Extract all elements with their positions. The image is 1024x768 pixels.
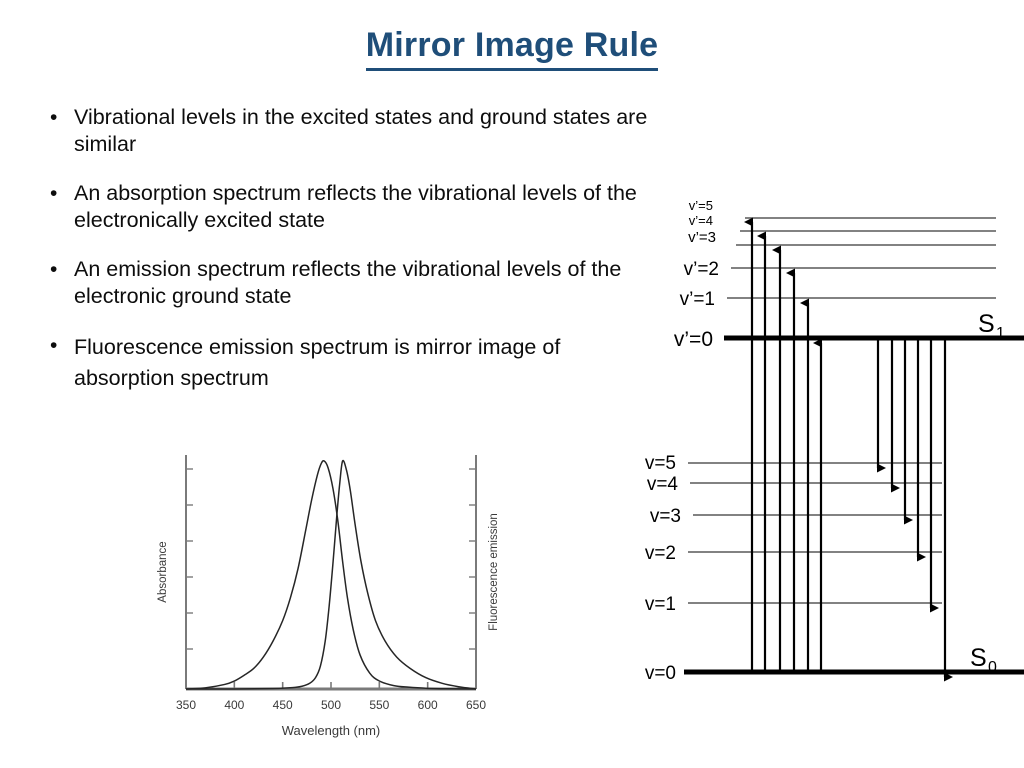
excited-level-label-2: v’=2 (684, 259, 719, 280)
bullet-item-4: • Fluorescence emission spectrum is mirr… (44, 332, 664, 394)
excited-state-label: S (978, 310, 995, 338)
absorbance-curve (186, 461, 476, 689)
excited-level-label-0: v’=0 (674, 328, 713, 351)
excited-level-label-1: v’=1 (680, 289, 715, 310)
emission-arrows (878, 338, 945, 677)
bullet-text-4: Fluorescence emission spectrum is mirror… (74, 335, 560, 390)
bullet-item-2: • An absorption spectrum reflects the vi… (44, 180, 664, 234)
ground-state-label: S (970, 644, 987, 672)
ground-level-label-4: v=4 (647, 474, 679, 495)
x-axis-ticklabel: 400 (224, 698, 244, 712)
spectra-svg: 350400450500550600650 Absorbance Fluores… (142, 443, 522, 748)
x-axis-ticklabel: 650 (466, 698, 486, 712)
x-axis-ticklabel: 450 (273, 698, 293, 712)
fluorescence-emission-curve (186, 461, 476, 690)
slide-canvas: Mirror Image Rule • Vibrational levels i… (0, 0, 1024, 768)
ground-level-label-5: v=5 (645, 453, 676, 474)
ground-level-label-2: v=2 (645, 543, 676, 564)
bullet-item-1: • Vibrational levels in the excited stat… (44, 104, 664, 158)
bullet-text-1: Vibrational levels in the excited states… (74, 105, 647, 156)
bullet-list: • Vibrational levels in the excited stat… (44, 104, 664, 416)
page-title-text: Mirror Image Rule (366, 26, 658, 71)
bullet-text-2: An absorption spectrum reflects the vibr… (74, 181, 637, 232)
x-axis-ticklabel: 600 (418, 698, 438, 712)
x-axis-ticklabel: 500 (321, 698, 341, 712)
absorption-arrows (752, 222, 821, 672)
jablonski-svg: v’=5 v’=4 v’=3 v’=2 v’=1 v’=0 S 1 v=5 v=… (600, 180, 1024, 700)
x-axis-title: Wavelength (nm) (282, 723, 381, 738)
left-axis-title: Absorbance (157, 541, 169, 602)
page-title: Mirror Image Rule (0, 26, 1024, 71)
bullet-marker: • (50, 256, 57, 283)
x-axis-ticklabels: 350400450500550600650 (176, 698, 486, 712)
bullet-marker: • (50, 180, 57, 207)
bullet-text-3: An emission spectrum reflects the vibrat… (74, 257, 621, 308)
ground-level-label-1: v=1 (645, 594, 676, 615)
excited-level-lines (727, 218, 996, 298)
spectra-figure: 350400450500550600650 Absorbance Fluores… (142, 443, 522, 748)
excited-level-label-3: v’=3 (688, 229, 716, 246)
excited-level-label-5: v’=5 (689, 198, 713, 213)
left-axis-ticks (186, 469, 193, 649)
right-axis-ticks (469, 469, 476, 649)
jablonski-diagram: v’=5 v’=4 v’=3 v’=2 v’=1 v’=0 S 1 v=5 v=… (600, 180, 1024, 700)
x-axis-ticklabel: 550 (369, 698, 389, 712)
x-axis-ticklabel: 350 (176, 698, 196, 712)
ground-level-label-0: v=0 (645, 663, 676, 684)
bullet-marker: • (50, 104, 57, 131)
bullet-marker: • (50, 332, 57, 359)
ground-state-sublabel: 0 (988, 659, 997, 676)
excited-level-label-4: v’=4 (689, 213, 713, 228)
right-axis-title: Fluorescence emission (488, 513, 500, 631)
ground-level-label-3: v=3 (650, 506, 681, 527)
excited-state-sublabel: 1 (996, 325, 1005, 342)
bullet-item-3: • An emission spectrum reflects the vibr… (44, 256, 664, 310)
